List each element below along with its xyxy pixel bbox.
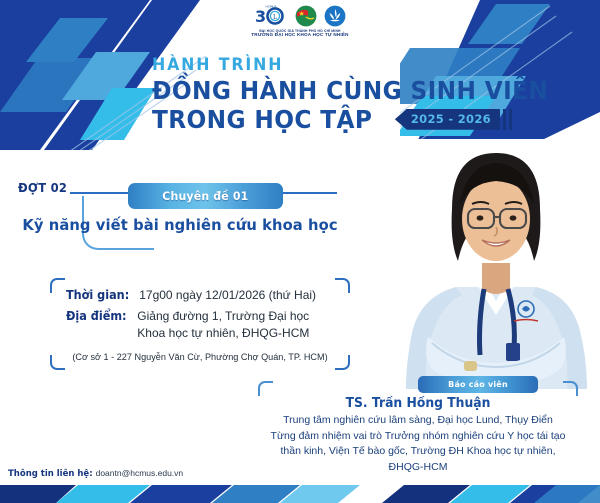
time-label: Thời gian: xyxy=(66,287,129,302)
youth-union-emblem-logo xyxy=(295,5,317,27)
year-badge-label: 2025 - 2026 xyxy=(411,112,491,126)
detail-row-place: Địa điểm: Giảng đường 1, Trường Đại học … xyxy=(66,308,309,343)
speaker-photo xyxy=(398,139,594,389)
address-note: (Cơ sở 1 - 227 Nguyễn Văn Cừ, Phường Chợ… xyxy=(56,352,344,363)
detail-row-time: Thời gian: 17g00 ngày 12/01/2026 (thứ Ha… xyxy=(66,287,316,302)
speaker-bio: Trung tâm nghiên cứu lâm sàng, Đại học L… xyxy=(258,413,578,475)
phase-label: ĐỢT 02 xyxy=(18,180,67,195)
event-details-box: Thời gian: 17g00 ngày 12/01/2026 (thứ Ha… xyxy=(50,278,350,370)
topic-title: Kỹ năng viết bài nghiên cứu khoa học xyxy=(9,216,351,234)
decorative-bottom-band xyxy=(0,483,600,503)
title-line-1: ĐỒNG HÀNH CÙNG SINH VIÊN xyxy=(152,78,548,104)
connector-line-right xyxy=(283,192,337,194)
speaker-bio-line-2: Từng đảm nhiệm vai trò Trưởng nhóm nghiê… xyxy=(271,430,566,442)
speaker-bio-line-4: ĐHQG-HCM xyxy=(389,461,448,473)
logo-row: 3 L HCMUS xyxy=(254,3,346,29)
connector-line-left xyxy=(70,192,132,194)
place-value-line-2: Khoa học tự nhiên, ĐHQG-HCM xyxy=(137,326,309,340)
speaker-bracket-top-left xyxy=(258,381,273,396)
svg-text:3: 3 xyxy=(255,7,266,26)
svg-text:HCMUS: HCMUS xyxy=(265,5,276,9)
contact-label: Thông tin liên hệ: xyxy=(8,469,93,479)
time-value: 17g00 ngày 12/01/2026 (thứ Hai) xyxy=(139,288,316,302)
place-value-line-1: Giảng đường 1, Trường Đại học xyxy=(137,309,309,323)
speaker-bio-line-3: thần kinh, Viện Tế bào gốc, Trường ĐH Kh… xyxy=(280,445,555,457)
speaker-bracket-top-right xyxy=(563,381,578,396)
year-badge: 2025 - 2026 xyxy=(395,109,513,130)
title-line-2-row: TRONG HỌC TẬP 2025 - 2026 xyxy=(152,107,578,133)
organization-name: ĐẠI HỌC QUỐC GIA THÀNH PHỐ HỒ CHÍ MINH T… xyxy=(251,30,348,38)
topic-badge-label: Chuyên đề 01 xyxy=(162,189,248,203)
year-bars-decoration xyxy=(503,109,513,130)
svg-text:L: L xyxy=(273,14,277,21)
poster-title: HÀNH TRÌNH ĐỒNG HÀNH CÙNG SINH VIÊN TRON… xyxy=(152,57,578,132)
event-poster: 3 L HCMUS ĐẠI HỌC QUỐC GIA THÀNH P xyxy=(0,0,600,503)
speaker-name: TS. Trần Hồng Thuận xyxy=(266,396,570,411)
place-value: Giảng đường 1, Trường Đại học Khoa học t… xyxy=(137,308,309,343)
anniversary-30-logo: 3 L HCMUS xyxy=(254,3,288,29)
speaker-bio-line-1: Trung tâm nghiên cứu lâm sàng, Đại học L… xyxy=(283,414,553,426)
place-label: Địa điểm: xyxy=(66,308,127,323)
university-circle-logo xyxy=(324,5,346,27)
contact-email[interactable]: doantn@hcmus.edu.vn xyxy=(96,468,184,478)
org-line-2: TRƯỜNG ĐẠI HỌC KHOA HỌC TỰ NHIÊN xyxy=(251,33,348,38)
bracket-top-left xyxy=(50,278,65,293)
year-arrow-shape: 2025 - 2026 xyxy=(395,109,500,130)
contact-info: Thông tin liên hệ: doantn@hcmus.edu.vn xyxy=(8,468,183,479)
bracket-top-right xyxy=(335,278,350,293)
title-eyebrow: HÀNH TRÌNH xyxy=(152,57,548,74)
title-line-2: TRONG HỌC TẬP xyxy=(152,107,372,133)
topic-badge: Chuyên đề 01 xyxy=(128,183,283,209)
header-logos: 3 L HCMUS ĐẠI HỌC QUỐC GIA THÀNH P xyxy=(0,3,600,38)
